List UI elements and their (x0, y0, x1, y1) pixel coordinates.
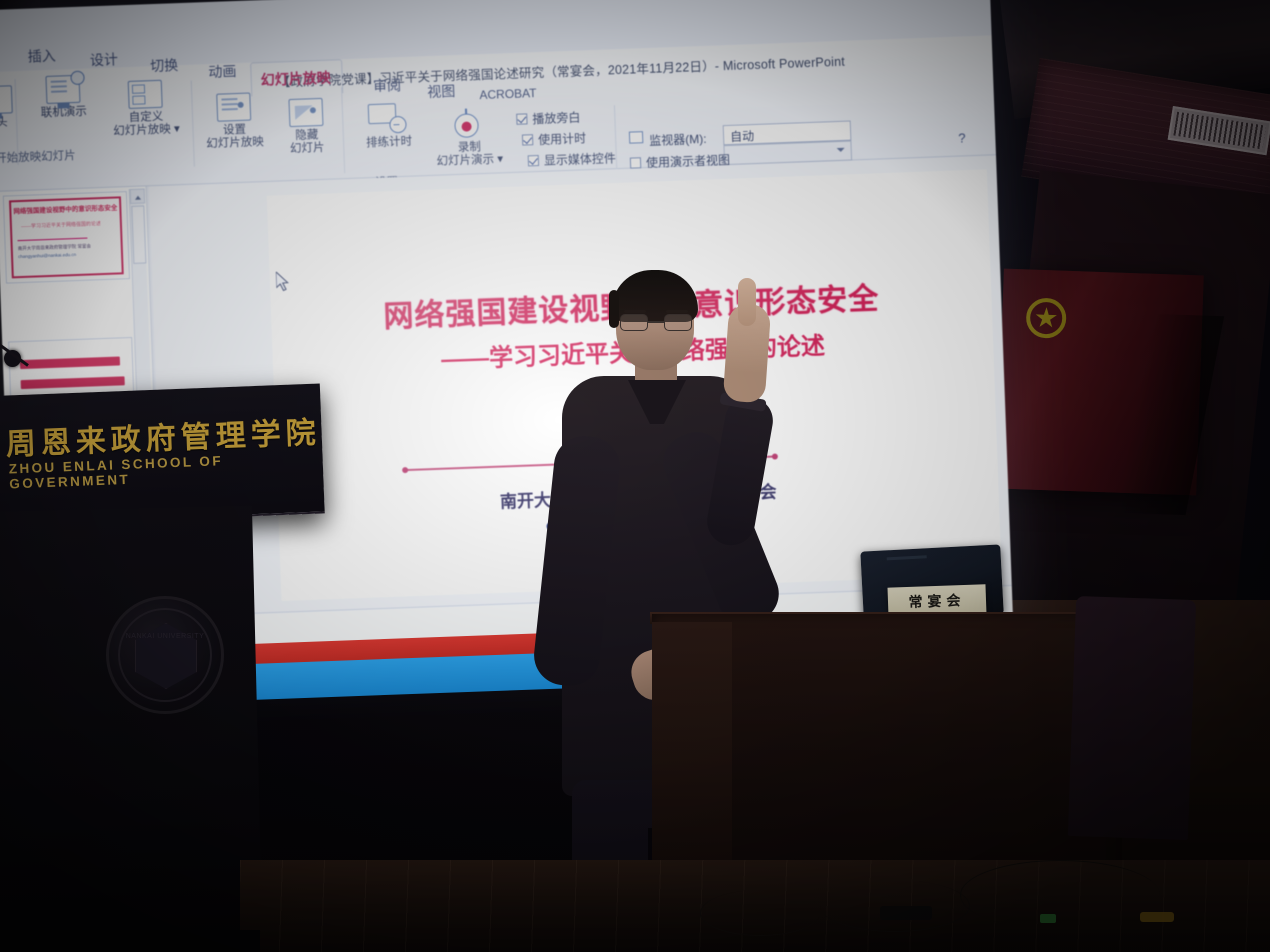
checkbox-label: 显示媒体控件 (544, 151, 616, 168)
tab-transitions[interactable]: 切换 (150, 55, 179, 76)
checkbox-label: 使用计时 (538, 131, 586, 147)
btn-label-line2: 幻灯片放映 (206, 136, 264, 150)
checkbox-icon (516, 113, 527, 124)
help-icon[interactable]: ? (958, 130, 966, 145)
rehearse-timings-icon (368, 103, 409, 134)
hide-slide-icon (288, 98, 323, 127)
btn-label-line1: 设置 (223, 124, 246, 137)
tab-animations[interactable]: 动画 (208, 61, 237, 82)
monitor-label: 监视器(M): (649, 130, 707, 149)
university-emblem-icon: NANKAI UNIVERSITY (106, 596, 224, 714)
checkbox-icon (630, 157, 641, 168)
star-icon (1035, 307, 1058, 330)
thumbnail-bar (20, 356, 120, 369)
btn-label-line2: 幻灯片演示 ▾ (436, 153, 503, 167)
tab-insert[interactable]: 插入 (27, 46, 56, 67)
podium-body (0, 506, 263, 952)
laptop-brand-line (887, 555, 927, 560)
microphone-icon (0, 350, 30, 410)
lens-right (664, 314, 692, 331)
stage-edge (0, 930, 260, 952)
record-slideshow-icon (448, 108, 489, 139)
scrollbar-thumb[interactable] (131, 205, 146, 263)
youth-league-flag (996, 269, 1204, 496)
yellow-cable (1140, 912, 1174, 922)
flag-star-emblem-icon (1026, 297, 1067, 338)
speaker-pointing-finger (738, 278, 756, 326)
checkbox-show-media-controls[interactable]: 显示媒体控件 (528, 149, 617, 169)
podium-banner: 周恩来政府管理学院 ZHOU ENLAI SCHOOL OF GOVERNMEN… (0, 383, 325, 525)
glasses-icon (620, 314, 692, 332)
checkbox-use-timings[interactable]: 使用计时 (522, 129, 587, 148)
monitor-icon (629, 131, 643, 144)
btn-label-line1: 自定义 (129, 111, 164, 124)
green-connector (1040, 914, 1056, 923)
btn-label-line1: 排练计时 (366, 136, 412, 150)
glasses-bridge (648, 321, 664, 323)
speaker-brow (624, 310, 646, 313)
checkbox-icon (528, 155, 539, 166)
ribbon-button-hide-slide[interactable]: 隐藏 幻灯片 (263, 97, 349, 157)
name-card-text: 常宴会 (908, 590, 966, 612)
present-online-icon (45, 75, 80, 104)
lens-left (620, 314, 648, 331)
from-beginning-icon (0, 85, 13, 114)
setup-slideshow-icon (216, 93, 251, 122)
checkbox-icon (522, 134, 533, 145)
chair (1068, 596, 1196, 840)
tab-view[interactable]: 视图 (427, 81, 456, 102)
checkbox-play-narrations[interactable]: 播放旁白 (516, 108, 581, 127)
chevron-down-icon (837, 148, 845, 152)
ribbon-button-record-slideshow[interactable]: 录制 幻灯片演示 ▾ (426, 107, 512, 169)
lecture-hall-scene: 【政府学院党课】习近平关于网络强国论述研究（常宴会，2021年11月22日）- … (0, 0, 1270, 952)
cable (700, 890, 820, 936)
tab-acrobat: ACROBAT (479, 86, 537, 102)
monitor-select-value: 自动 (730, 129, 755, 144)
btn-label-line1: 录制 (458, 141, 481, 154)
tab-review[interactable]: 审阅 (373, 75, 402, 96)
ribbon-button-present-online[interactable]: 联机演示 (20, 74, 106, 121)
speaker-brow (666, 310, 688, 313)
power-adapter (880, 906, 932, 920)
checkbox-label: 播放旁白 (532, 110, 580, 126)
ribbon-button-rehearse-timings[interactable]: 排练计时 (346, 102, 432, 151)
btn-label-line2: 幻灯片放映 ▾ (113, 123, 180, 137)
btn-label-line2: 幻灯片 (290, 142, 325, 155)
ribbon-button-custom-slideshow[interactable]: 自定义 幻灯片放映 ▾ (103, 79, 189, 139)
cable (960, 860, 1160, 930)
tab-slideshow[interactable]: 幻灯片放映 (260, 68, 331, 91)
emblem-text: NANKAI UNIVERSITY (109, 633, 221, 640)
slide-thumbnail-1[interactable]: 网络强国建设视野中的意识形态安全 ——学习习近平关于网络强国的论述 南开大学周恩… (3, 191, 130, 283)
tab-design[interactable]: 设计 (90, 49, 119, 70)
custom-slideshow-icon (128, 80, 163, 109)
btn-label-line1: 隐藏 (295, 129, 318, 142)
scroll-up-arrow-icon[interactable] (130, 188, 146, 204)
thumbnail-bar (21, 376, 125, 389)
